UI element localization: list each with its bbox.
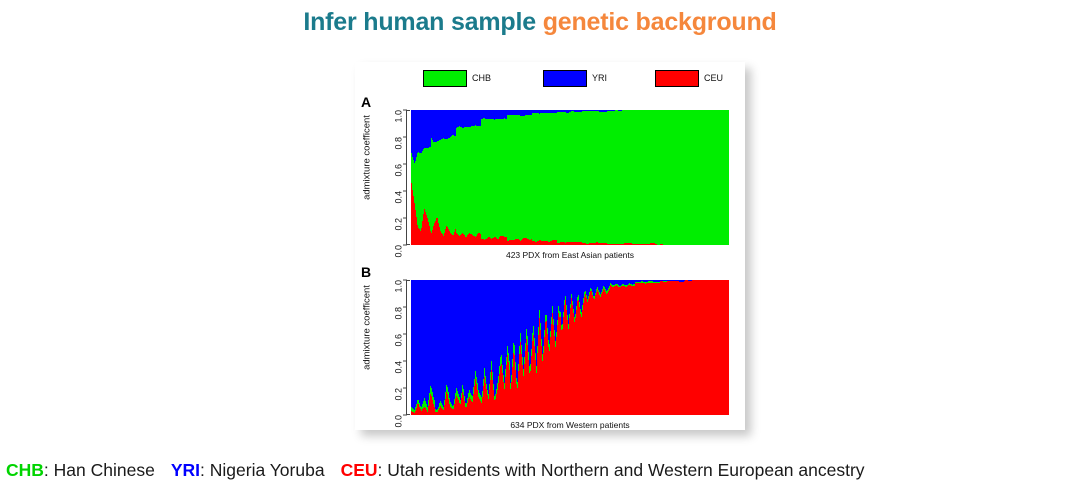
key-abbr-ceu: CEU — [341, 460, 378, 480]
y-tick-label: 1.0 — [394, 280, 404, 293]
y-axis-title-a: admixture coefficent — [362, 93, 373, 223]
y-tick-mark — [403, 110, 407, 111]
key-sep-yri: : — [200, 460, 210, 480]
key-item-ceu: CEU: Utah residents with Northern and We… — [341, 460, 865, 480]
legend-entry-yri: YRI — [543, 68, 607, 88]
y-tick-mark — [403, 191, 407, 192]
y-tick-label: 0.2 — [394, 388, 404, 401]
population-key: CHB: Han ChineseYRI: Nigeria YorubaCEU: … — [6, 460, 1076, 481]
key-item-chb: CHB: Han Chinese — [6, 460, 155, 480]
y-axis-ticks-a: 0.00.20.40.60.81.0 — [381, 110, 407, 245]
y-axis-ticks-b: 0.00.20.40.60.81.0 — [381, 280, 407, 415]
key-item-yri: YRI: Nigeria Yoruba — [171, 460, 325, 480]
y-tick-label: 0.8 — [394, 137, 404, 150]
x-axis-label-b: 634 PDX from Western patients — [411, 420, 729, 430]
chart-panel-b: B admixture coefficent 0.00.20.40.60.81.… — [355, 260, 745, 442]
y-tick-label: 0.4 — [394, 361, 404, 374]
page-title: Infer human sample genetic background — [0, 8, 1080, 37]
page-title-part-1: Infer human sample — [303, 8, 542, 36]
y-tick-mark — [403, 218, 407, 219]
y-tick-mark — [403, 415, 407, 416]
admixture-segment-chb — [728, 110, 729, 245]
plot-area-a — [411, 110, 729, 245]
key-abbr-chb: CHB — [6, 460, 44, 480]
page-title-part-2: genetic background — [543, 8, 777, 36]
legend-label-ceu: CEU — [704, 73, 723, 83]
y-tick-mark — [403, 307, 407, 308]
y-tick-label: 0.6 — [394, 334, 404, 347]
y-tick-mark — [403, 388, 407, 389]
key-sep-ceu: : — [378, 460, 388, 480]
y-axis-line-a — [406, 110, 407, 245]
y-tick-label: 0.6 — [394, 164, 404, 177]
legend-label-yri: YRI — [592, 73, 607, 83]
y-tick-label: 0.4 — [394, 191, 404, 204]
key-sep-chb: : — [44, 460, 54, 480]
legend-swatch-yri-icon — [543, 70, 587, 87]
legend-entry-chb: CHB — [423, 68, 491, 88]
figure-card: CHB YRI CEU A admixture coefficent 0.00.… — [355, 62, 745, 430]
key-desc-chb: Han Chinese — [54, 460, 155, 480]
y-tick-mark — [403, 245, 407, 246]
y-tick-label: 0.8 — [394, 307, 404, 320]
legend-entry-ceu: CEU — [655, 68, 723, 88]
admixture-bar — [728, 110, 729, 245]
y-tick-mark — [403, 280, 407, 281]
legend-swatch-chb-icon — [423, 70, 467, 87]
legend-label-chb: CHB — [472, 73, 491, 83]
plot-area-b — [411, 280, 729, 415]
y-axis-line-b — [406, 280, 407, 415]
y-tick-mark — [403, 361, 407, 362]
y-tick-mark — [403, 164, 407, 165]
y-tick-mark — [403, 334, 407, 335]
chart-panel-a: A admixture coefficent 0.00.20.40.60.81.… — [355, 90, 745, 272]
key-abbr-yri: YRI — [171, 460, 200, 480]
legend-swatch-ceu-icon — [655, 70, 699, 87]
y-tick-label: 0.0 — [394, 245, 404, 258]
key-desc-yri: Nigeria Yoruba — [210, 460, 325, 480]
admixture-bar — [728, 280, 729, 415]
y-axis-title-b: admixture coefficent — [362, 263, 373, 393]
y-tick-label: 0.0 — [394, 415, 404, 428]
x-axis-label-a: 423 PDX from East Asian patients — [411, 250, 729, 260]
y-tick-label: 0.2 — [394, 218, 404, 231]
key-desc-ceu: Utah residents with Northern and Western… — [387, 460, 864, 480]
admixture-segment-ceu — [728, 280, 729, 415]
y-tick-label: 1.0 — [394, 110, 404, 123]
y-tick-mark — [403, 137, 407, 138]
